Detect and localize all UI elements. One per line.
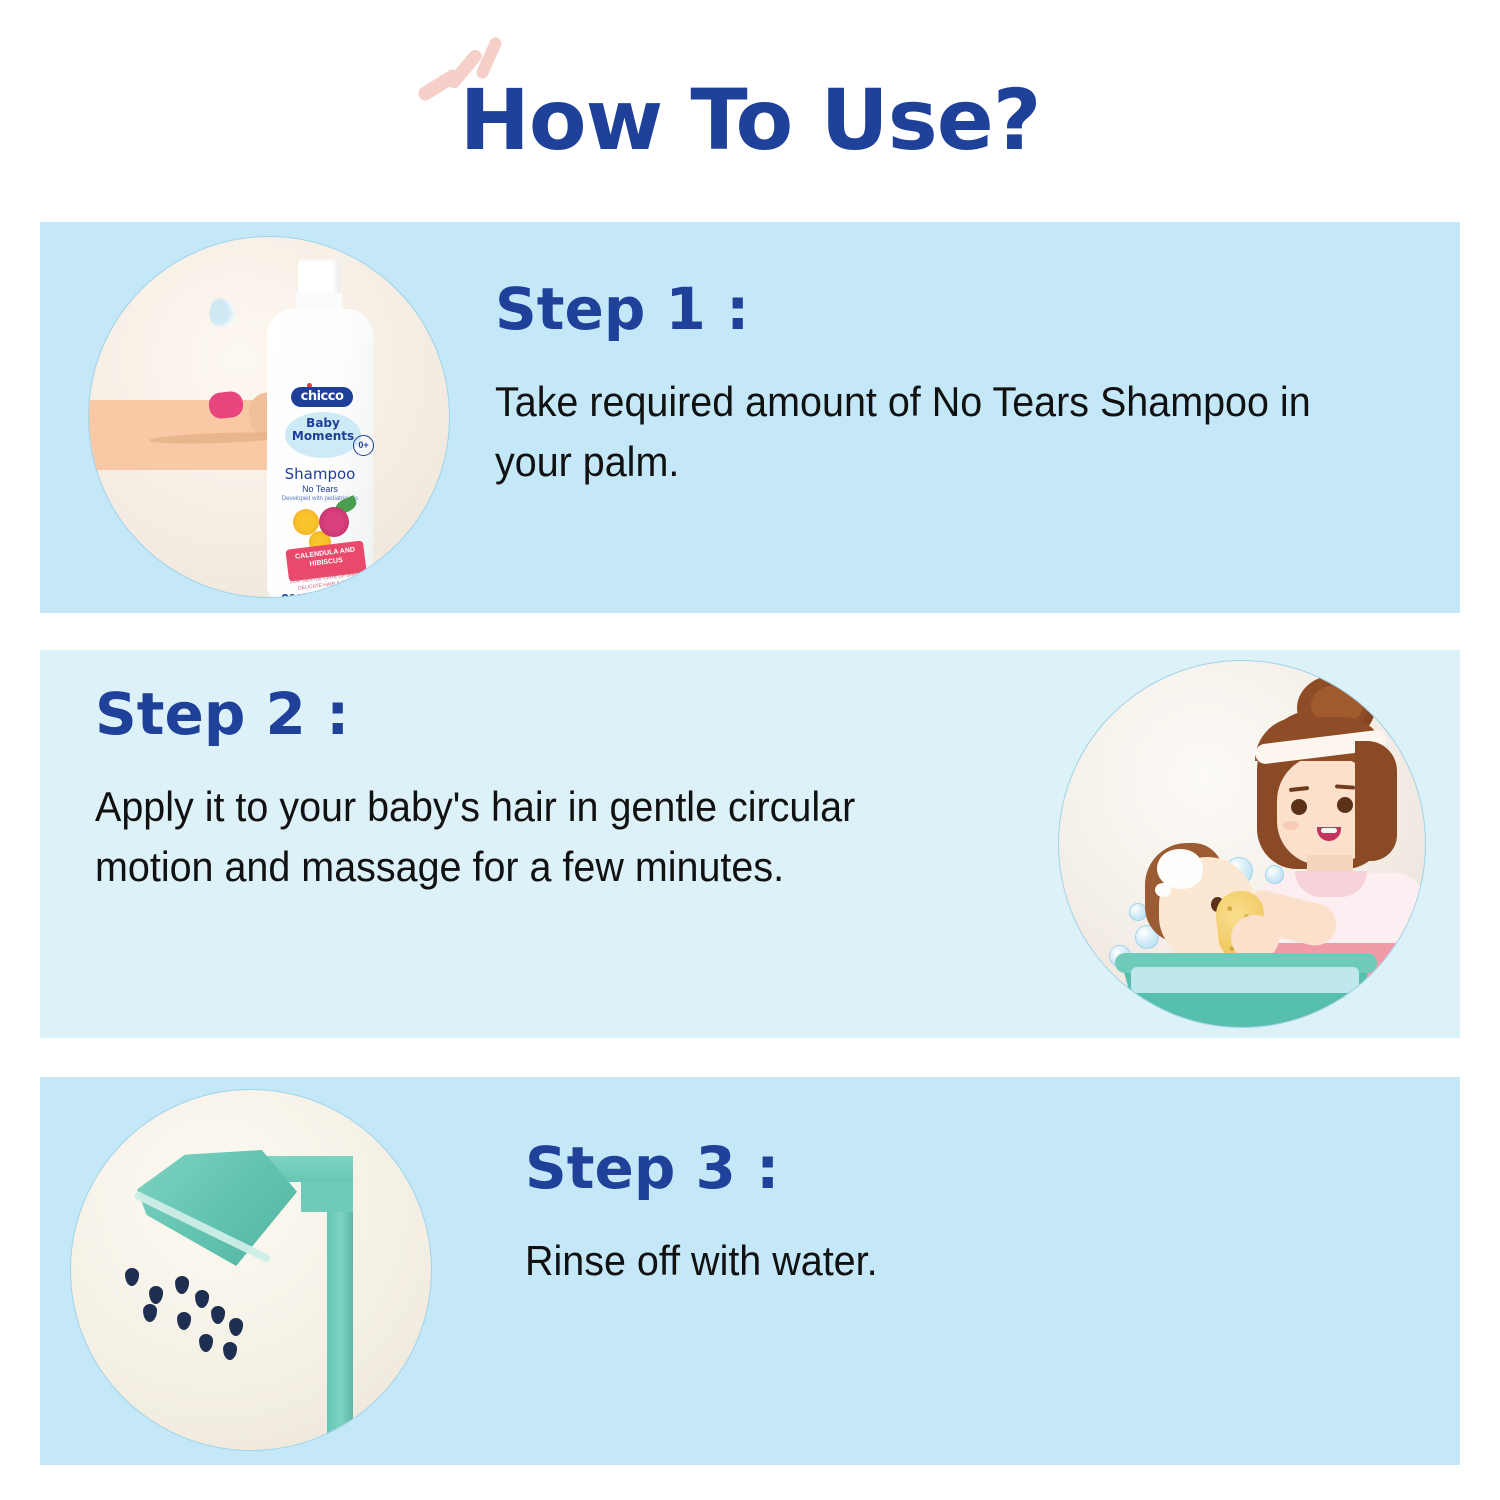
water-drop-icon — [223, 1342, 238, 1360]
water-drop-icon — [195, 1290, 210, 1308]
step-1-text: Step 1 : Take required amount of No Tear… — [495, 280, 1405, 491]
water-drop-icon — [211, 1306, 226, 1324]
step-3-illustration — [70, 1089, 432, 1451]
step-2-heading: Step 2 : — [95, 685, 1030, 743]
water-drop-icon — [149, 1286, 164, 1304]
percent-value: 0% — [281, 591, 303, 598]
bath-water — [1131, 967, 1359, 993]
step-panel-3: Step 3 : Rinse off with water. — [40, 1077, 1460, 1465]
mother-eye — [1337, 797, 1353, 813]
product-subtitle: No Tears — [267, 484, 373, 494]
product-line-label: Baby Moments — [285, 417, 361, 443]
step-3-heading: Step 3 : — [525, 1139, 1405, 1197]
step-3-body: Rinse off with water. — [525, 1231, 1352, 1291]
page-title: How To Use? — [0, 78, 1500, 162]
mother-cheek — [1283, 821, 1299, 830]
age-badge: 0+ — [353, 435, 374, 456]
step-2-body: Apply it to your baby's hair in gentle c… — [95, 777, 974, 896]
percent-note: PARABENS, ALCOHOL, DYES — [303, 593, 363, 598]
bottle-body: chicco Baby Moments 0+ Shampoo No Tears … — [267, 309, 373, 598]
mother-eye — [1291, 799, 1307, 815]
step-panel-1: chicco Baby Moments 0+ Shampoo No Tears … — [40, 222, 1460, 613]
mother-hair-side — [1355, 741, 1397, 861]
shampoo-foam — [1155, 883, 1171, 897]
shampoo-bottle: chicco Baby Moments 0+ Shampoo No Tears … — [265, 259, 375, 598]
step-2-text: Step 2 : Apply it to your baby's hair in… — [95, 685, 1030, 896]
hibiscus-flower-icon — [319, 507, 349, 537]
product-tagline: Developed with pediatricians — [267, 496, 373, 502]
step-1-heading: Step 1 : — [495, 280, 1405, 338]
step-2-illustration — [1058, 660, 1426, 1028]
soap-bubble-icon — [1265, 865, 1284, 884]
shower-pipe-vertical — [327, 1186, 353, 1438]
product-name: Shampoo — [267, 465, 373, 483]
step-panel-2: Step 2 : Apply it to your baby's hair in… — [40, 650, 1460, 1038]
water-droplet-icon — [206, 295, 238, 330]
water-drop-icon — [143, 1304, 158, 1322]
water-drop-icon — [229, 1318, 244, 1336]
water-drop-icon — [177, 1312, 192, 1330]
water-drop-icon — [199, 1334, 214, 1352]
bottle-cap — [298, 259, 340, 295]
water-drop-icon — [125, 1268, 140, 1286]
title-block: How To Use? — [0, 0, 1500, 222]
step-3-text: Step 3 : Rinse off with water. — [525, 1139, 1405, 1291]
step-1-body: Take required amount of No Tears Shampoo… — [495, 372, 1350, 491]
mother-teeth — [1321, 828, 1337, 833]
brand-logo: chicco — [291, 387, 353, 407]
water-drop-icon — [175, 1276, 190, 1294]
step-1-illustration: chicco Baby Moments 0+ Shampoo No Tears … — [88, 236, 450, 598]
